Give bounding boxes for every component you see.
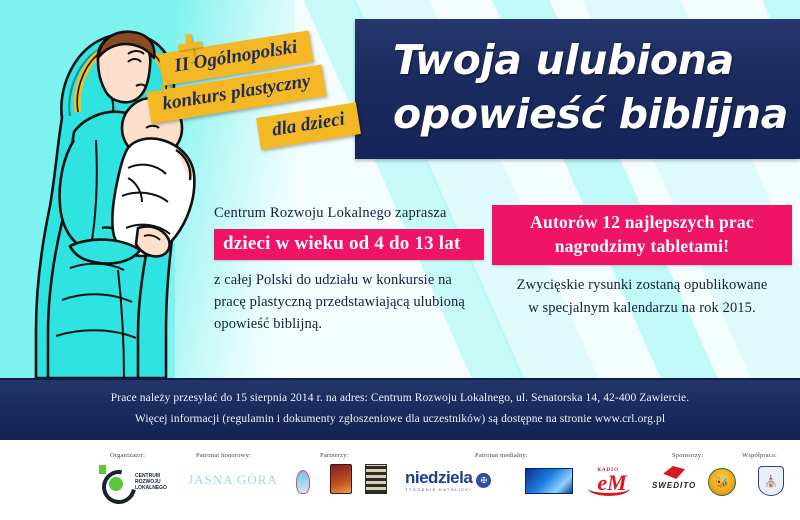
left-text-column: Centrum Rozwoju Lokalnego zaprasza dziec…	[214, 205, 484, 335]
right-paragraph-line-2: w specjalnym kalendarzu na rok 2015.	[528, 300, 755, 316]
left-lead-text: Centrum Rozwoju Lokalnego zaprasza	[214, 205, 484, 222]
logo-partner-grid[interactable]	[365, 464, 387, 494]
prize-highlight: Autorów 12 najlepszych prac nagrodzimy t…	[492, 205, 792, 265]
caption-honorary-patronage: Patronat honorowy:	[196, 452, 251, 459]
age-range-highlight: dzieci w wieku od 4 do 13 lat	[214, 229, 484, 260]
page-title: Twoja ulubiona opowieść biblijna	[393, 33, 793, 141]
prize-line-2: nagrodzimy tabletami!	[555, 236, 729, 256]
poster-canvas: Twoja ulubiona opowieść biblijna II Ogól…	[0, 0, 800, 520]
crl-mark-icon	[98, 465, 132, 499]
crl-word-3: LOKALNEGO	[135, 485, 167, 491]
caption-partners: Partnerzy:	[320, 452, 349, 459]
title-panel: Twoja ulubiona opowieść biblijna	[355, 19, 800, 159]
swedito-wordmark: SWEDITO	[652, 481, 696, 490]
jasna-gora-wordmark: JASNA GÓRA	[188, 472, 278, 488]
caption-sponsors: Sponsorzy:	[672, 452, 703, 459]
niedziela-tagline: TYGODNIK KATOLICKI	[405, 488, 472, 492]
shield-crest-icon: ⛪	[758, 466, 784, 496]
swedito-mark-icon	[663, 466, 685, 479]
left-paragraph: z całej Polski do udziału w konkursie na…	[214, 269, 484, 335]
sponsor-strip: Do udziału zapraszają: Organizator: Patr…	[0, 440, 800, 520]
logo-sponsor-emblem[interactable]: 🐝	[708, 468, 736, 496]
flame-icon	[292, 464, 314, 494]
niedziela-wordmark: niedziela	[405, 468, 472, 488]
prize-line-1: Autorów 12 najlepszych prac	[530, 212, 754, 232]
footer-line-2: Więcej informacji (regulamin i dokumenty…	[0, 404, 800, 425]
logo-swedito[interactable]: SWEDITO	[652, 466, 696, 490]
logo-partner-book[interactable]	[330, 464, 352, 494]
book-icon	[330, 464, 352, 494]
crl-wordmark: CENTRUM ROZWOJU LOKALNEGO	[135, 473, 167, 492]
title-line-1: Twoja ulubiona	[393, 36, 734, 84]
footer-info-band: Prace należy przesyłać do 15 sierpnia 20…	[0, 378, 800, 442]
caption-media-patronage: Patronat medialny:	[475, 452, 528, 459]
caption-organizer: Organizator:	[110, 452, 145, 459]
logo-tv-station[interactable]	[525, 468, 573, 494]
right-paragraph-line-1: Zwycięskie rysunki zostaną opublikowane	[517, 277, 768, 293]
logo-partner-flame[interactable]	[292, 464, 314, 494]
grid-icon	[365, 464, 387, 494]
title-line-2: opowieść biblijna	[393, 87, 793, 141]
right-paragraph: Zwycięskie rysunki zostaną opublikowane …	[492, 274, 792, 319]
logo-centrum-rozwoju-lokalnego[interactable]: CENTRUM ROZWOJU LOKALNEGO	[98, 465, 167, 499]
tv-screen-icon	[525, 468, 573, 494]
niedziela-badge-icon: ✠	[476, 473, 491, 488]
circular-emblem-icon: 🐝	[708, 468, 736, 496]
logo-niedziela[interactable]: niedziela TYGODNIK KATOLICKI ✠	[405, 468, 491, 492]
footer-line-1: Prace należy przesyłać do 15 sierpnia 20…	[0, 380, 800, 404]
radio-em-swoosh-icon	[588, 481, 630, 496]
right-text-column: Autorów 12 najlepszych prac nagrodzimy t…	[492, 205, 792, 319]
logo-jasna-gora[interactable]: JASNA GÓRA	[188, 472, 278, 488]
logo-cooperation-crest[interactable]: ⛪	[758, 466, 784, 496]
caption-cooperation: Współpraca:	[742, 452, 777, 459]
logo-radio-em[interactable]: RADIO eM	[586, 464, 638, 498]
